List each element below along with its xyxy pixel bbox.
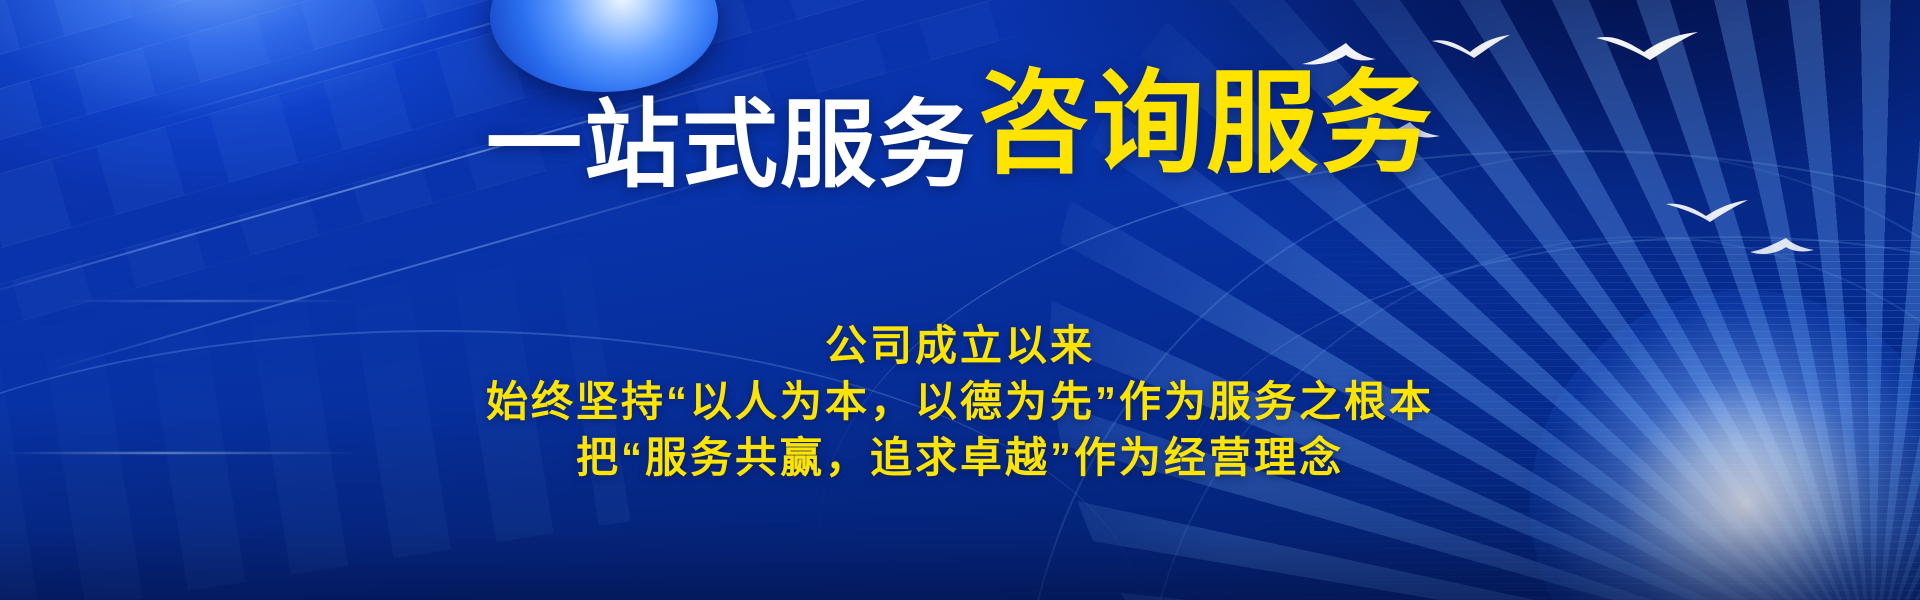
subtitle-line-2: 始终坚持“以人为本，以德为先”作为服务之根本	[0, 374, 1920, 430]
seagull-icon	[1664, 198, 1752, 226]
promo-banner: 一站式服务咨询服务 公司成立以来 始终坚持“以人为本，以德为先”作为服务之根本 …	[0, 0, 1920, 600]
seagull-icon	[1594, 30, 1714, 66]
headline-accent: 咨询服务	[978, 61, 1434, 186]
seagull-icon	[1748, 236, 1826, 260]
subtitle-block: 公司成立以来 始终坚持“以人为本，以德为先”作为服务之根本 把“服务共赢，追求卓…	[0, 318, 1920, 486]
subtitle-line-1: 公司成立以来	[0, 318, 1920, 374]
headline-primary: 一站式服务	[486, 92, 976, 199]
subtitle-line-3: 把“服务共赢，追求卓越”作为经营理念	[0, 430, 1920, 486]
seagull-icon	[1430, 32, 1526, 62]
light-streak	[60, 300, 360, 302]
page-title: 一站式服务咨询服务	[0, 84, 1920, 196]
